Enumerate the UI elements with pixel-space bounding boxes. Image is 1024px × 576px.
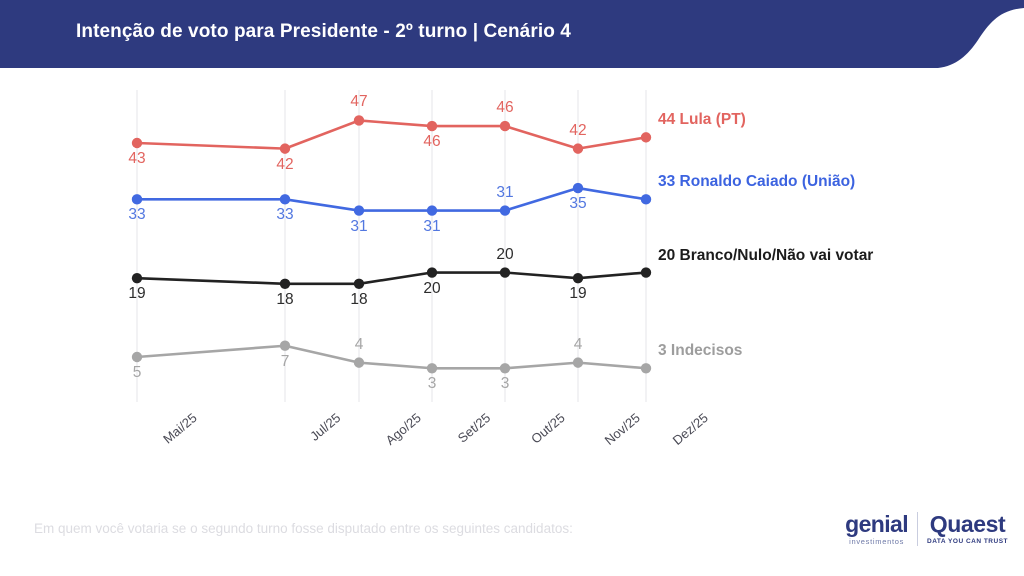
data-label-black-Mai/25: 19 xyxy=(128,285,145,303)
data-point-red-Nov/25[interactable] xyxy=(573,143,583,153)
data-point-black-Jul/25[interactable] xyxy=(280,279,290,289)
data-point-red-Set/25[interactable] xyxy=(427,121,437,131)
series-label-blue: 33 Ronaldo Caiado (União) xyxy=(658,173,855,191)
data-label-red-Nov/25: 42 xyxy=(569,122,586,140)
logo-group: genial investimentos Quaest DATA YOU CAN… xyxy=(845,512,1008,546)
data-point-gray-Jul/25[interactable] xyxy=(280,341,290,351)
quaest-logo-wordmark: Quaest xyxy=(930,513,1006,536)
genial-logo-tagline: investimentos xyxy=(849,538,904,546)
data-point-red-Mai/25[interactable] xyxy=(132,138,142,148)
data-point-gray-Ago/25[interactable] xyxy=(354,357,364,367)
data-label-black-Set/25: 20 xyxy=(423,280,440,298)
data-point-black-Dez/25[interactable] xyxy=(641,267,651,277)
quaest-logo: Quaest DATA YOU CAN TRUST xyxy=(927,513,1008,546)
series-line-gray xyxy=(137,346,646,369)
data-point-red-Ago/25[interactable] xyxy=(354,115,364,125)
data-label-blue-Mai/25: 33 xyxy=(128,206,145,224)
data-label-red-Mai/25: 43 xyxy=(128,150,145,168)
slide-root: Intenção de voto para Presidente - 2º tu… xyxy=(0,0,1024,576)
data-point-blue-Mai/25[interactable] xyxy=(132,194,142,204)
series-label-red: 44 Lula (PT) xyxy=(658,111,746,129)
data-point-gray-Dez/25[interactable] xyxy=(641,363,651,373)
logo-divider xyxy=(917,512,918,546)
data-point-gray-Out/25[interactable] xyxy=(500,363,510,373)
data-label-gray-Set/25: 3 xyxy=(428,375,437,393)
data-label-blue-Jul/25: 33 xyxy=(276,206,293,224)
chart-canvas xyxy=(0,72,1024,472)
data-point-blue-Set/25[interactable] xyxy=(427,205,437,215)
data-label-red-Out/25: 46 xyxy=(496,99,513,117)
data-label-blue-Out/25: 31 xyxy=(496,184,513,202)
data-point-blue-Out/25[interactable] xyxy=(500,205,510,215)
genial-logo-wordmark: genial xyxy=(845,513,908,536)
page-title: Intenção de voto para Presidente - 2º tu… xyxy=(76,21,571,43)
data-point-black-Out/25[interactable] xyxy=(500,267,510,277)
header-banner: Intenção de voto para Presidente - 2º tu… xyxy=(0,0,1024,72)
data-label-gray-Out/25: 3 xyxy=(501,375,510,393)
series-label-black: 20 Branco/Nulo/Não vai votar xyxy=(658,247,873,265)
data-point-black-Nov/25[interactable] xyxy=(573,273,583,283)
data-point-black-Mai/25[interactable] xyxy=(132,273,142,283)
data-point-blue-Dez/25[interactable] xyxy=(641,194,651,204)
data-label-blue-Nov/25: 35 xyxy=(569,195,586,213)
quaest-logo-tagline: DATA YOU CAN TRUST xyxy=(927,539,1008,546)
data-point-red-Dez/25[interactable] xyxy=(641,132,651,142)
data-label-gray-Jul/25: 7 xyxy=(281,353,290,371)
data-point-black-Ago/25[interactable] xyxy=(354,279,364,289)
data-point-blue-Jul/25[interactable] xyxy=(280,194,290,204)
data-point-blue-Ago/25[interactable] xyxy=(354,205,364,215)
data-label-red-Jul/25: 42 xyxy=(276,156,293,174)
data-label-black-Nov/25: 19 xyxy=(569,285,586,303)
data-point-red-Jul/25[interactable] xyxy=(280,143,290,153)
data-label-black-Ago/25: 18 xyxy=(350,291,367,309)
data-point-gray-Mai/25[interactable] xyxy=(132,352,142,362)
question-footnote: Em quem você votaria se o segundo turno … xyxy=(34,521,573,536)
data-label-red-Ago/25: 47 xyxy=(350,93,367,111)
series-label-gray: 3 Indecisos xyxy=(658,342,742,360)
data-point-gray-Set/25[interactable] xyxy=(427,363,437,373)
data-label-gray-Nov/25: 4 xyxy=(574,336,583,354)
data-label-blue-Set/25: 31 xyxy=(423,218,440,236)
data-point-red-Out/25[interactable] xyxy=(500,121,510,131)
data-label-black-Jul/25: 18 xyxy=(276,291,293,309)
chart-plot-area: 4342474646423333313131351918182020195743… xyxy=(0,72,1024,472)
genial-logo: genial investimentos xyxy=(845,513,908,546)
data-label-gray-Ago/25: 4 xyxy=(355,336,364,354)
data-label-black-Out/25: 20 xyxy=(496,246,513,264)
chart-series-lines xyxy=(137,120,646,368)
series-line-black xyxy=(137,273,646,284)
data-point-gray-Nov/25[interactable] xyxy=(573,357,583,367)
data-label-blue-Ago/25: 31 xyxy=(350,218,367,236)
data-label-red-Set/25: 46 xyxy=(423,133,440,151)
data-label-gray-Mai/25: 5 xyxy=(133,364,142,382)
data-point-black-Set/25[interactable] xyxy=(427,267,437,277)
data-point-blue-Nov/25[interactable] xyxy=(573,183,583,193)
